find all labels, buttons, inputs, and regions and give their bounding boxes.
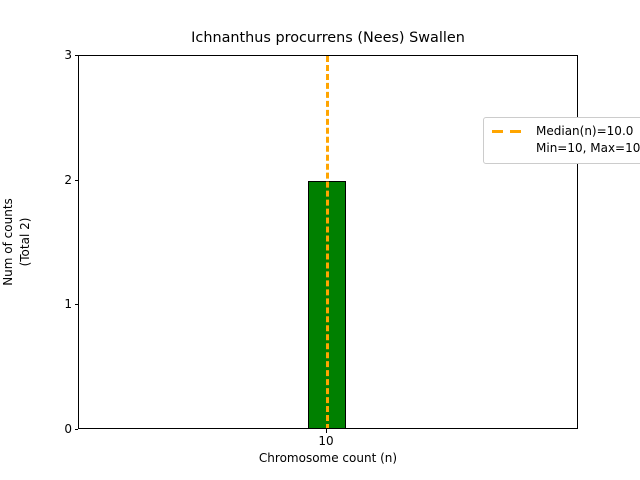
y-tick-label: 2 <box>64 174 72 186</box>
legend-entry-texts: Median(n)=10.0 Min=10, Max=10 <box>536 123 640 157</box>
x-tick-label: 10 <box>318 435 333 447</box>
y-axis-label-line2: (Total 2) <box>18 218 32 267</box>
chart-title: Ichnanthus procurrens (Nees) Swallen <box>78 30 578 46</box>
y-tick-label: 0 <box>64 423 72 435</box>
figure-canvas: Ichnanthus procurrens (Nees) Swallen 0 1… <box>0 0 640 480</box>
y-tick-label: 1 <box>64 298 72 310</box>
legend-label-minmax: Min=10, Max=10 <box>536 140 640 157</box>
y-axis-label-line1: Num of counts <box>1 198 15 286</box>
plot-area: Median(n)=10.0 Min=10, Max=10 <box>78 55 578 429</box>
plot-inner <box>79 56 577 428</box>
y-axis-label: Num of counts(Total 2) <box>0 55 34 429</box>
legend[interactable]: Median(n)=10.0 Min=10, Max=10 <box>483 117 640 164</box>
y-tick-label: 3 <box>64 49 72 61</box>
x-axis-label: Chromosome count (n) <box>78 452 578 465</box>
legend-label-median: Median(n)=10.0 <box>536 123 640 140</box>
median-line <box>326 56 329 428</box>
dashed-line-icon <box>491 123 529 140</box>
legend-entry-median: Median(n)=10.0 Min=10, Max=10 <box>491 123 640 157</box>
